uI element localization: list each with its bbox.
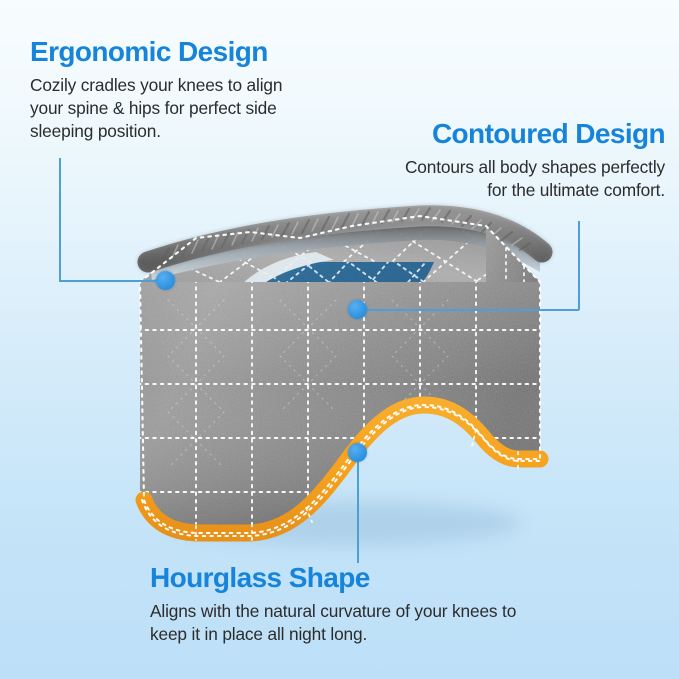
connector-hourglass-vertical [357, 452, 359, 563]
callout-heading-ergonomic: Ergonomic Design [30, 36, 282, 67]
callout-body-line: Cozily cradles your knees to align [30, 74, 282, 97]
marker-dot-hourglass[interactable] [348, 443, 367, 462]
callout-hourglass-shape: Hourglass Shape Aligns with the natural … [150, 562, 516, 646]
marker-dot-contoured[interactable] [348, 300, 367, 319]
callout-ergonomic-design: Ergonomic Design Cozily cradles your kne… [30, 36, 282, 143]
connector-ergonomic-horizontal [59, 280, 168, 282]
callout-body-line: Aligns with the natural curvature of you… [150, 600, 516, 623]
connector-contoured-horizontal [358, 309, 579, 311]
marker-dot-ergonomic[interactable] [156, 271, 175, 290]
callout-body-contoured: Contours all body shapes perfectly for t… [405, 156, 665, 202]
callout-contoured-design: Contoured Design Contours all body shape… [405, 118, 665, 202]
callout-heading-hourglass: Hourglass Shape [150, 562, 516, 593]
callout-body-line: Contours all body shapes perfectly [405, 156, 665, 179]
infographic-canvas: Ergonomic Design Cozily cradles your kne… [0, 0, 679, 679]
callout-body-line: your spine & hips for perfect side [30, 97, 282, 120]
callout-body-line: keep it in place all night long. [150, 623, 516, 646]
callout-body-hourglass: Aligns with the natural curvature of you… [150, 600, 516, 646]
connector-contoured-vertical [578, 221, 580, 310]
callout-body-ergonomic: Cozily cradles your knees to align your … [30, 74, 282, 142]
connector-ergonomic-vertical [59, 158, 61, 280]
callout-body-line: for the ultimate comfort. [405, 179, 665, 202]
callout-body-line: sleeping position. [30, 120, 282, 143]
callout-heading-contoured: Contoured Design [405, 118, 665, 149]
